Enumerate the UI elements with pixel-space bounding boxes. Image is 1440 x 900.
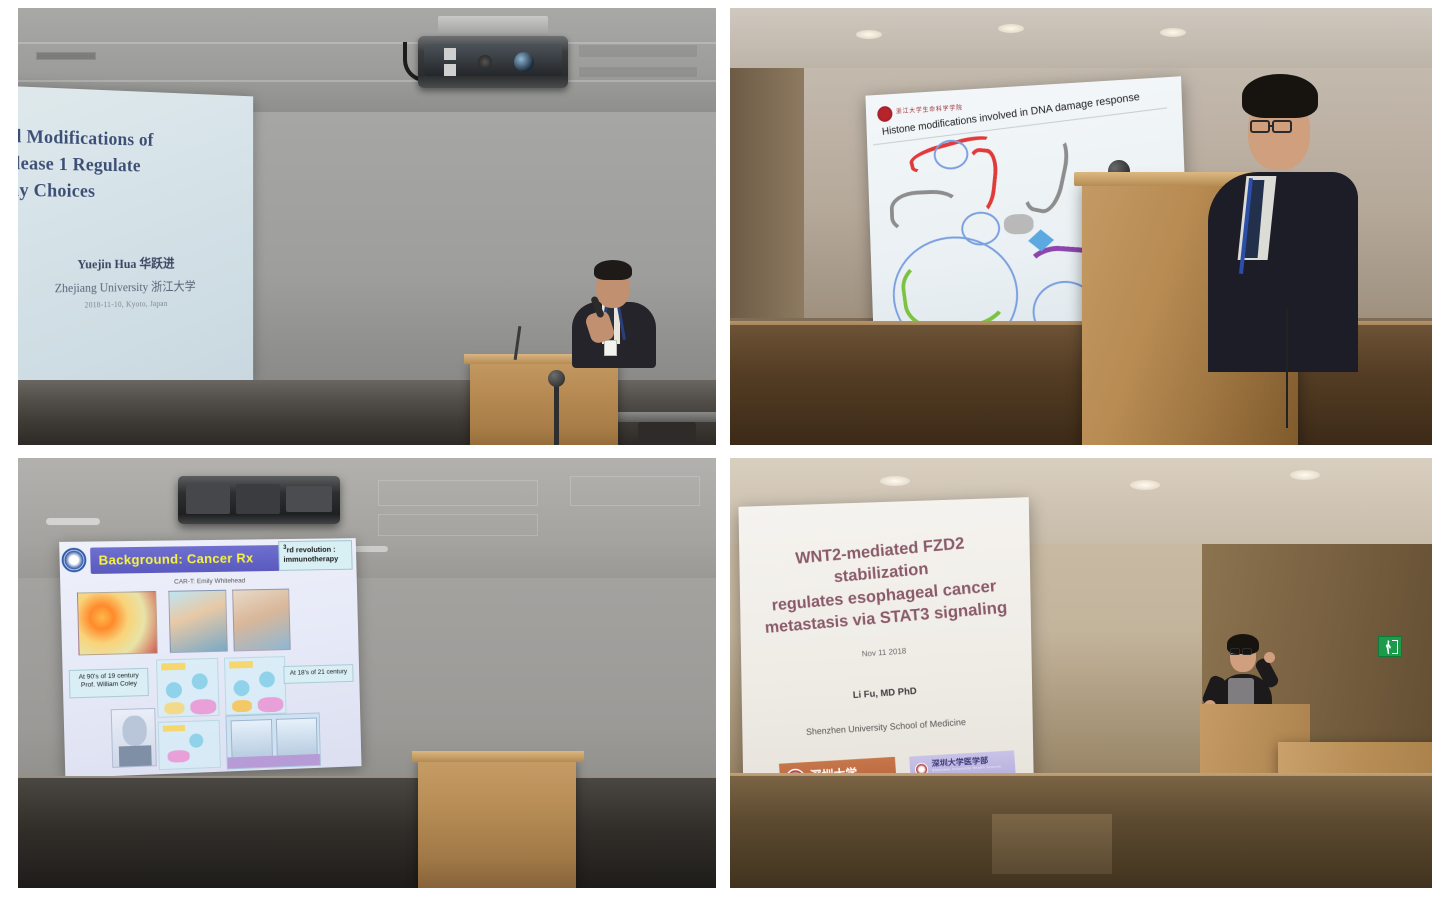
photo-panel-bottom-right: WNT2-mediated FZD2 stabilization regulat… (730, 458, 1432, 888)
slide-title: nal Modifications of uclease 1 Regulate … (18, 124, 229, 207)
university-seal-icon (61, 548, 86, 573)
projector-icon (178, 476, 340, 524)
slide-affiliation: Shenzhen University School of Medicine (742, 713, 1033, 741)
slide-date-location: 2018-11-10, Kyoto, Japan (18, 298, 238, 311)
slide-affiliation: Zhejiang University 浙江大学 (18, 275, 238, 297)
tumor-cells-image (77, 591, 158, 655)
speaker-person (1200, 68, 1370, 368)
projector-mount (438, 16, 548, 38)
patient-photo-1 (168, 590, 227, 653)
projector-icon (418, 36, 568, 88)
slide-header-logo-text: 浙江大学生命科学学院 (896, 103, 963, 116)
cable (1286, 308, 1288, 428)
photo-collage: nal Modifications of uclease 1 Regulate … (0, 0, 1440, 900)
photo-panel-bottom-left: Background: Cancer Rx 3rd revolution : i… (18, 458, 716, 888)
mechanism-diagram-1 (156, 658, 220, 718)
emergency-exit-icon (1378, 636, 1402, 657)
mechanism-diagram-3 (158, 720, 221, 770)
microphone-icon (548, 370, 565, 387)
speaker-person (566, 260, 662, 366)
photo-panel-top-right: 浙江大学生命科学学院 Histone modifications involve… (730, 8, 1432, 445)
note-right: At 18's of 21 century (283, 664, 353, 684)
podium (418, 758, 576, 888)
historical-portrait (111, 708, 157, 768)
seating (992, 814, 1112, 874)
nobel-laureates-photo (225, 712, 320, 769)
podium (470, 360, 618, 445)
slide-author: Yuejin Hua 华跃进 (18, 253, 238, 273)
projection-screen-bottom-left: Background: Cancer Rx 3rd revolution : i… (59, 538, 361, 778)
slide-banner: Background: Cancer Rx (90, 545, 281, 574)
chair (638, 422, 696, 445)
slide-banner-title: Background: Cancer Rx (98, 550, 253, 567)
slide-date: Nov 11 2018 (741, 638, 1031, 667)
slide-author: Li Fu, MD PhD (742, 678, 1033, 708)
patient-photo-2 (232, 589, 291, 652)
photo-panel-top-left: nal Modifications of uclease 1 Regulate … (18, 8, 716, 445)
mechanism-diagram-2 (224, 656, 287, 716)
cart-caption: CAR-T: Emily Whitehead (174, 577, 245, 585)
projection-screen-bottom-right: WNT2-mediated FZD2 stabilization regulat… (738, 497, 1034, 802)
slide-callout: 3rd revolution : immunotherapy (278, 540, 353, 571)
table (602, 412, 716, 422)
stage-front (18, 778, 716, 888)
note-left: At 90's of 19 century Prof. William Cole… (69, 668, 149, 699)
university-seal-icon (877, 106, 893, 122)
projection-screen-top-left: nal Modifications of uclease 1 Regulate … (18, 86, 253, 391)
slide-title: WNT2-mediated FZD2 stabilization regulat… (750, 528, 1017, 640)
ceiling (730, 8, 1432, 68)
